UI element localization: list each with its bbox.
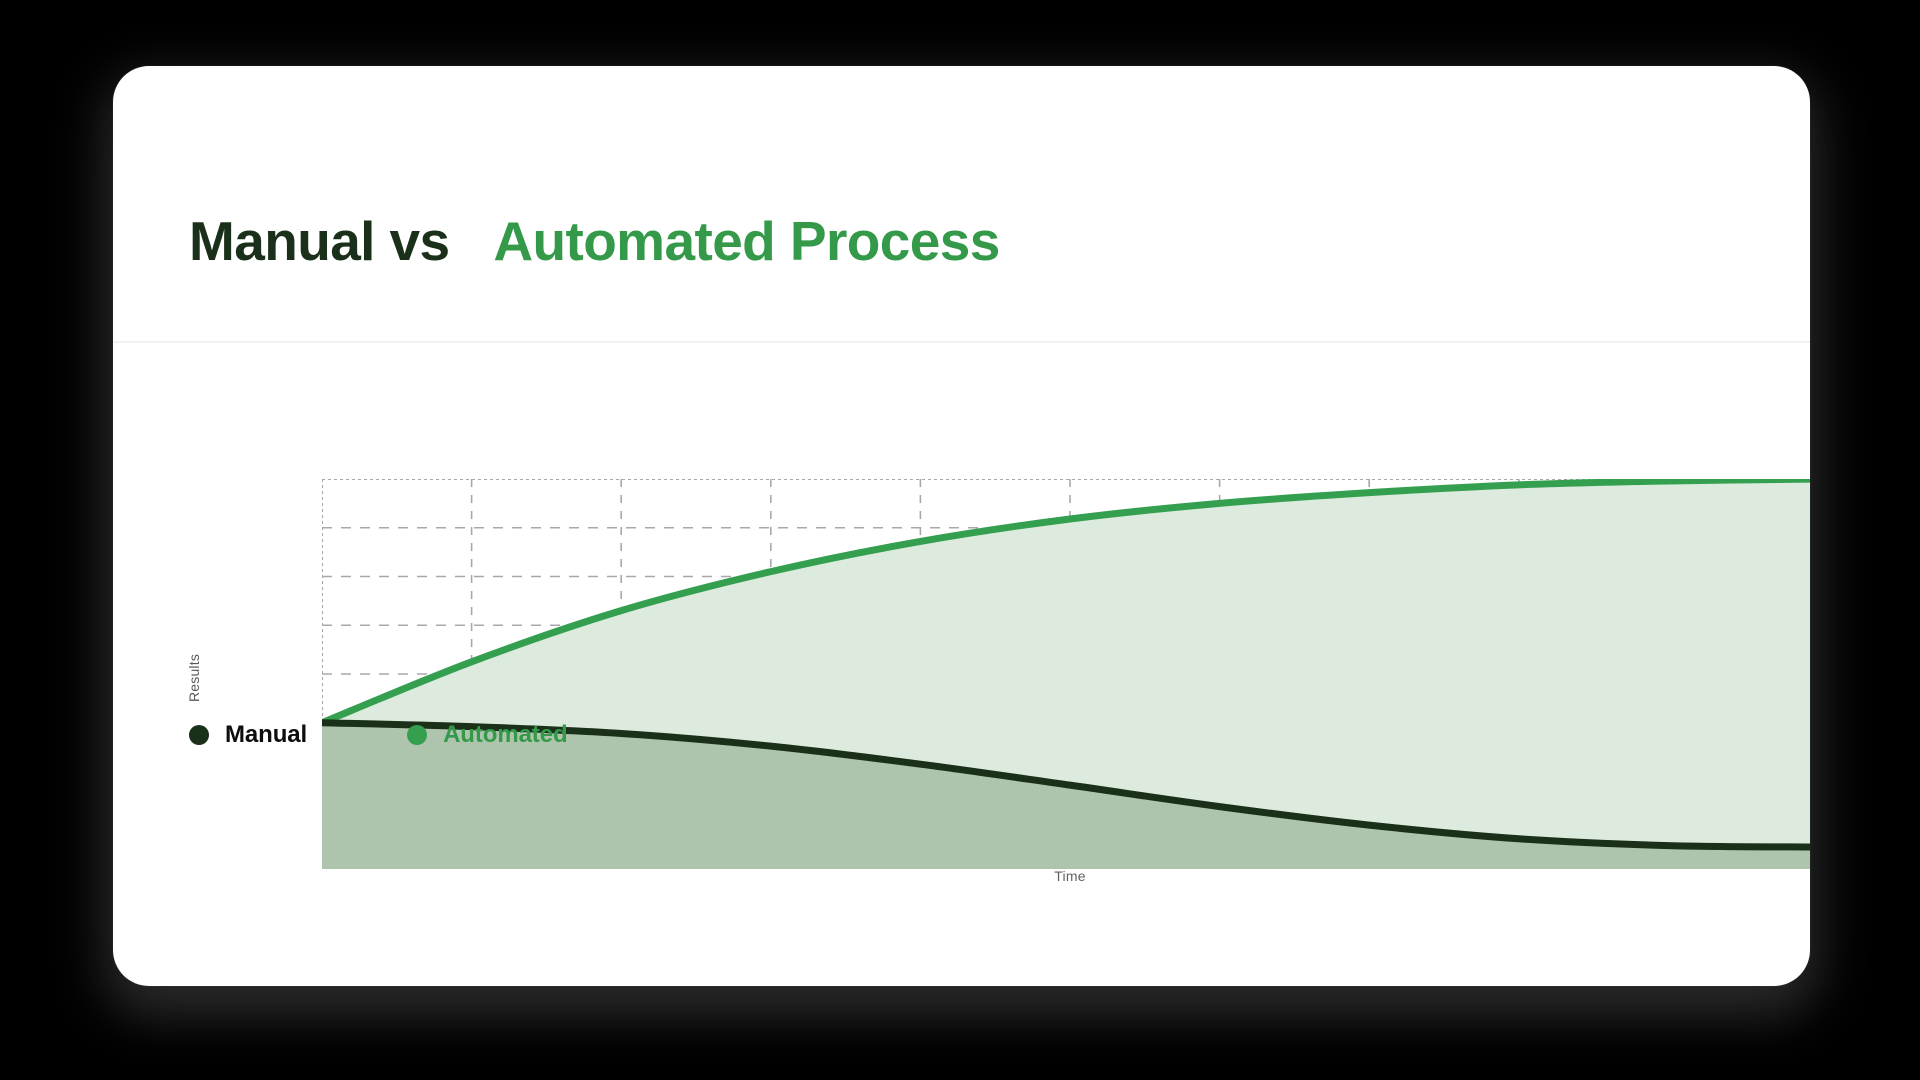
legend-item-automated[interactable]: Automated — [407, 721, 567, 749]
page-title-dark-part: Manual vs — [189, 210, 450, 272]
legend-label: Manual — [225, 721, 307, 749]
area-chart-svg — [322, 479, 1810, 869]
chart-body: Results Time — [113, 343, 1810, 986]
page-title: Manual vs Automated Process — [189, 214, 1000, 269]
legend-item-manual[interactable]: Manual — [189, 721, 307, 749]
chart-legend: Manual Automated — [189, 721, 568, 749]
card-header: Manual vs Automated Process — [113, 66, 1810, 343]
screenshot-root: Manual vs Automated Process Results Time — [0, 0, 1920, 1080]
x-axis-label: Time — [322, 868, 1810, 884]
chart-card: Manual vs Automated Process Results Time — [113, 66, 1810, 986]
page-title-green-part: Automated Process — [493, 210, 999, 272]
circle-marker-icon — [189, 725, 209, 745]
y-axis-label: Results — [186, 618, 202, 738]
circle-marker-icon — [407, 725, 427, 745]
chart-plot-area — [322, 479, 1810, 869]
legend-label: Automated — [443, 721, 567, 749]
